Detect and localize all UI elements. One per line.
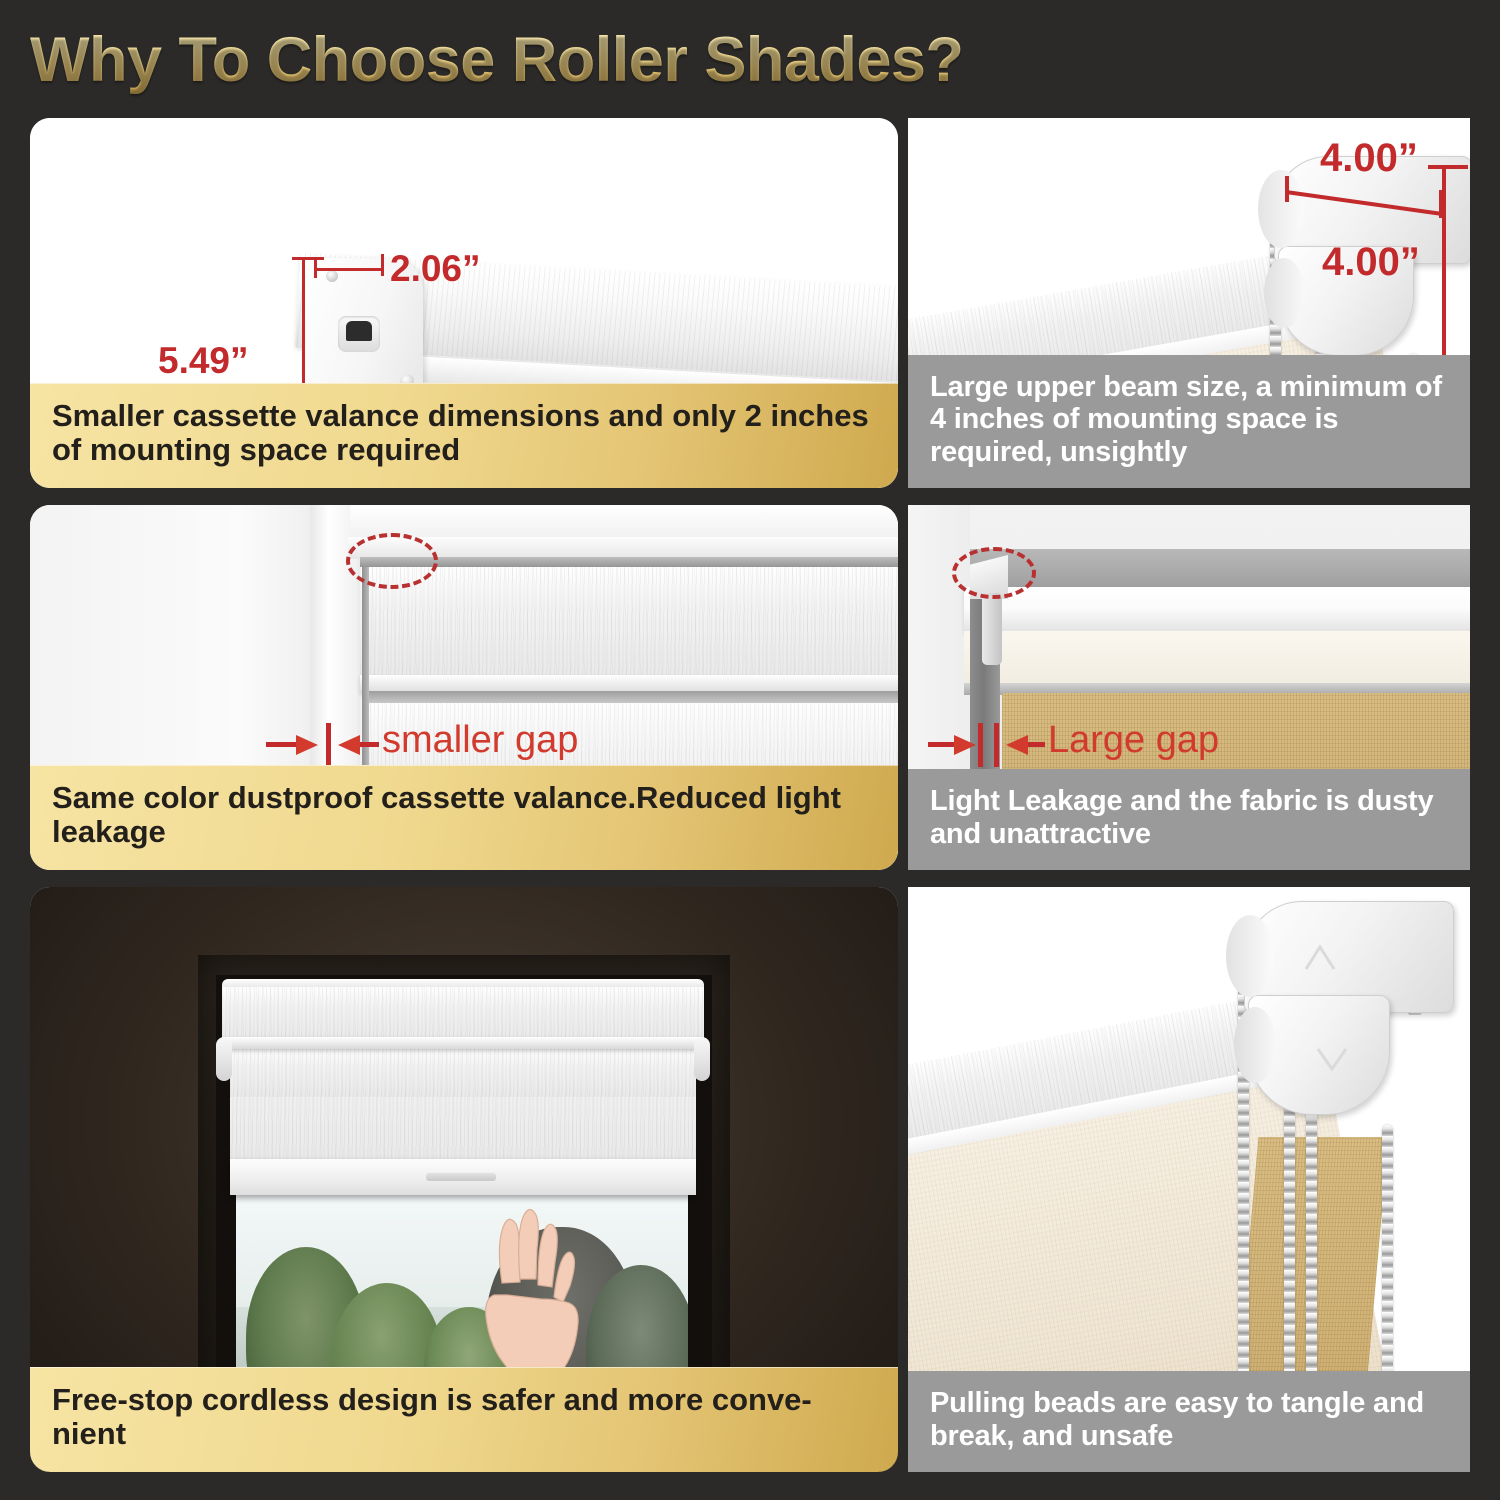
smaller-gap-arrow-left-head bbox=[296, 733, 318, 757]
beam-width-tick-left bbox=[1285, 176, 1289, 202]
caption-text: Pulling beads are easy to tangle and bre… bbox=[930, 1387, 1448, 1452]
smaller-gap-arrow-left-stem bbox=[266, 742, 300, 747]
smaller-gap-tick bbox=[326, 723, 331, 767]
caption-good-cassette-dimensions: Smaller cassette valance dimensions and … bbox=[30, 383, 898, 488]
height-dimension-label: 5.49” bbox=[158, 340, 249, 382]
large-gap-arrow-right-stem bbox=[1025, 742, 1045, 747]
page-title: Why To Choose Roller Shades? bbox=[30, 24, 963, 96]
beam-height-label: 4.00” bbox=[1322, 240, 1420, 285]
beam-height-line bbox=[1442, 166, 1446, 378]
valance-seam-highlight-circle bbox=[346, 533, 438, 589]
beam-height-tick-top bbox=[1428, 165, 1468, 169]
bracket-arrow-icon-lower bbox=[1312, 1037, 1352, 1077]
caption-bad-light-leakage: Light Leakage and the fabric is dusty an… bbox=[908, 769, 1470, 870]
panel-bad-upper-beam-size: 4.00” 4.00” Large upper beam size, a min… bbox=[908, 118, 1470, 488]
caption-good-dustproof-valance: Same color dustproof cassette valance.Re… bbox=[30, 765, 898, 870]
caption-text: Light Leakage and the fabric is dusty an… bbox=[930, 785, 1448, 850]
panel-good-cordless-design: Free-stop cordless design is safer and m… bbox=[30, 887, 898, 1472]
width-dimension-label: 2.06” bbox=[390, 248, 481, 290]
bracket-arrow-icon-upper bbox=[1300, 939, 1340, 979]
beam-width-label: 4.00” bbox=[1320, 136, 1418, 181]
large-gap-arrow-right-head bbox=[1006, 733, 1028, 757]
smaller-gap-label: smaller gap bbox=[382, 719, 578, 762]
smaller-gap-arrow-right-stem bbox=[357, 742, 379, 747]
panel-good-cassette-dimensions: 2.06” 5.49” Smaller cassette valance dim… bbox=[30, 118, 898, 488]
width-dimension-tick-left bbox=[314, 260, 317, 278]
large-gap-label: Large gap bbox=[1048, 719, 1219, 762]
width-dimension-tick-right bbox=[381, 254, 384, 276]
panel-good-dustproof-valance: smaller gap Same color dustproof cassett… bbox=[30, 505, 898, 870]
gap-highlight-circle bbox=[952, 547, 1036, 599]
caption-text: Large upper beam size, a minimum of 4 in… bbox=[930, 371, 1448, 468]
panel-bad-light-leakage: Large gap Light Leakage and the fabric i… bbox=[908, 505, 1470, 870]
width-dimension-line bbox=[315, 268, 383, 271]
caption-bad-upper-beam-size: Large upper beam size, a minimum of 4 in… bbox=[908, 355, 1470, 488]
large-gap-tick-left bbox=[978, 723, 983, 767]
smaller-gap-arrow-right-head bbox=[338, 733, 360, 757]
height-dimension-tick-top bbox=[292, 257, 324, 260]
caption-bad-pulling-beads: Pulling beads are easy to tangle and bre… bbox=[908, 1371, 1470, 1472]
large-gap-tick-right bbox=[994, 723, 999, 767]
caption-text: Free-stop cordless design is safer and m… bbox=[52, 1383, 876, 1452]
panel-bad-pulling-beads: Pulling beads are easy to tangle and bre… bbox=[908, 887, 1470, 1472]
caption-text: Smaller cassette valance dimensions and … bbox=[52, 399, 876, 468]
caption-text: Same color dustproof cassette valance.Re… bbox=[52, 781, 876, 850]
caption-good-cordless-design: Free-stop cordless design is safer and m… bbox=[30, 1367, 898, 1472]
page-header: Why To Choose Roller Shades? bbox=[30, 18, 1470, 102]
large-gap-arrow-left-head bbox=[954, 733, 976, 757]
